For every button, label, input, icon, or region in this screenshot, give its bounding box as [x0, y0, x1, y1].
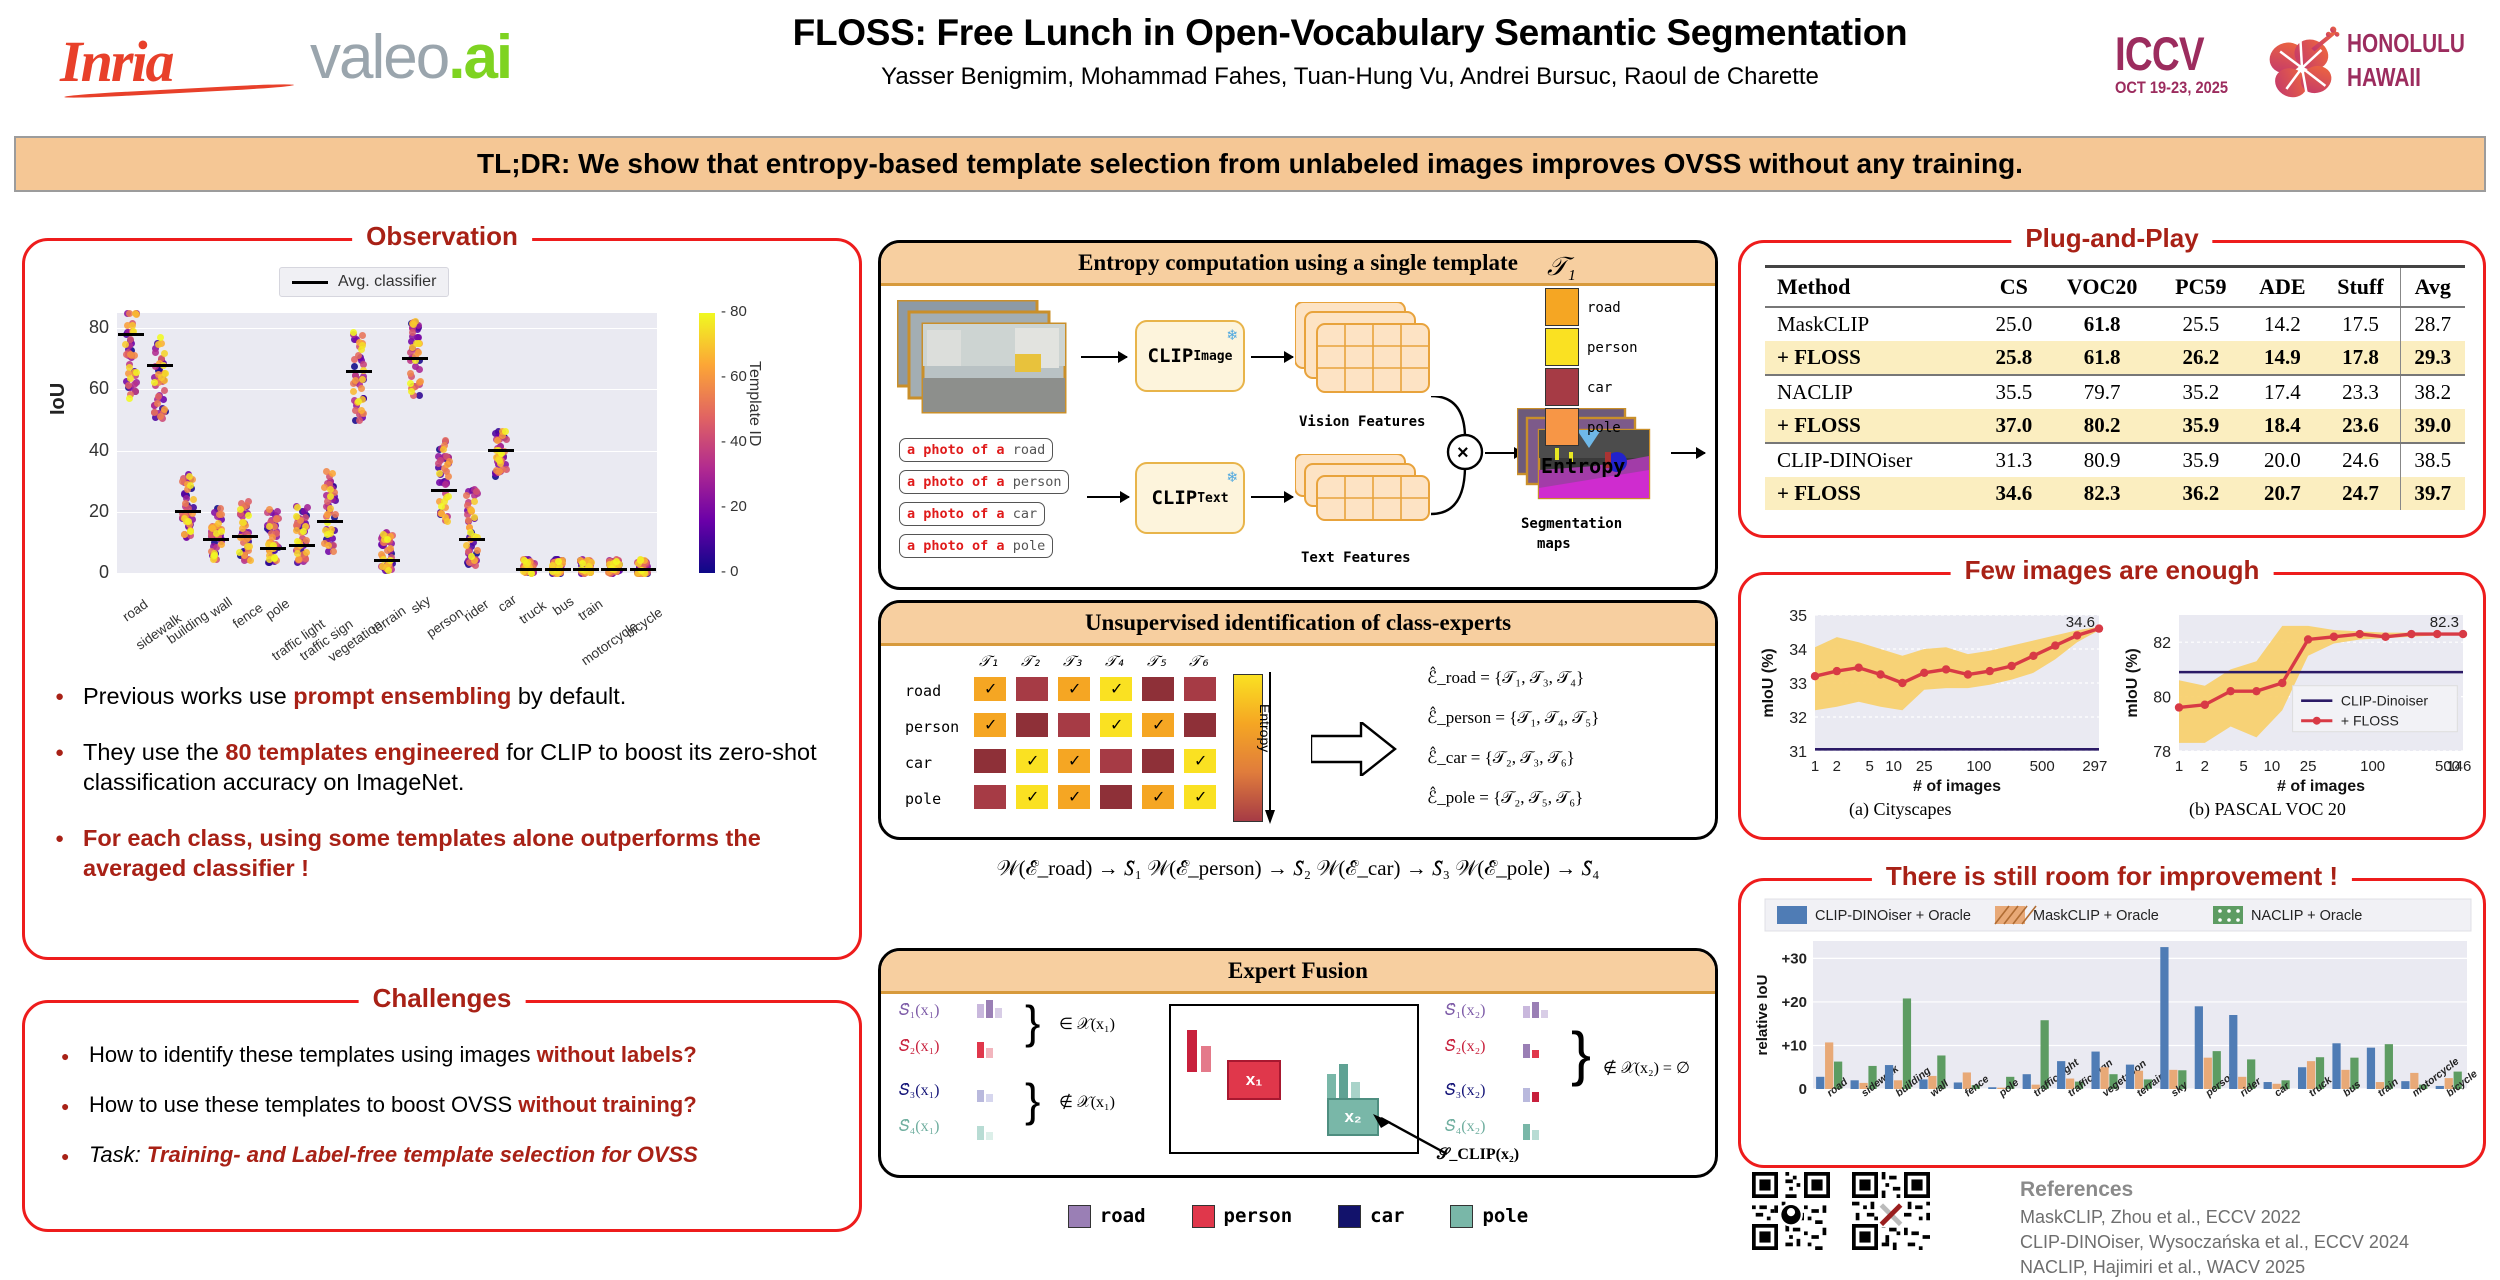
x-tick-label: 100 — [1966, 758, 1991, 775]
scatter-point — [245, 512, 252, 519]
cell-value: 23.6 — [2321, 409, 2400, 443]
check-icon: ✓ — [984, 715, 997, 735]
iccv-location: HONOLULU HAWAII — [2347, 26, 2465, 94]
scatter-point — [274, 508, 281, 515]
prompt-0-class: road — [1013, 442, 1046, 458]
class-swatch-person — [1192, 1205, 1215, 1228]
input-images-stack-icon — [897, 300, 1077, 420]
check-icon: ✓ — [1068, 787, 1081, 807]
class-legend-person: person — [1192, 1205, 1293, 1228]
cell-value: 25.5 — [2158, 307, 2243, 341]
matrix-cell: ✓ — [1141, 712, 1175, 738]
bar — [2264, 1082, 2272, 1089]
scatter-point — [244, 543, 251, 550]
right-mini-bars-icon — [1523, 998, 1567, 1148]
x-tick-label: 2 — [2201, 758, 2209, 775]
expert-left-row-3: 𝑆̂₄(x₁) — [899, 1118, 940, 1136]
cell-method: NACLIP — [1765, 375, 1982, 409]
prompt-1-class: person — [1013, 474, 1062, 490]
hibiscus-flower-icon — [2263, 24, 2341, 104]
svg-text:80: 80 — [2153, 690, 2171, 707]
inria-logo: Inria — [60, 28, 173, 95]
class-label-car: car — [1370, 1205, 1404, 1227]
brace-top-icon: } — [1025, 1002, 1040, 1042]
entropy-bar-label-person: person — [1587, 340, 1638, 356]
check-icon: ✓ — [1026, 751, 1039, 771]
matrix-cell: ✓ — [1099, 712, 1133, 738]
arrow-prompts-to-cliptext — [1087, 496, 1129, 498]
bar — [1816, 1077, 1824, 1089]
cell-method: CLIP-DINOiser — [1765, 443, 1982, 477]
title-block: FLOSS: Free Lunch in Open-Vocabulary Sem… — [640, 12, 2060, 91]
avg-classifier-marker — [488, 449, 514, 452]
vision-features-label: Vision Features — [1299, 414, 1425, 430]
github-qr-code[interactable] — [1752, 1172, 1830, 1250]
scatter-point — [415, 349, 422, 356]
valeo-logo: valeo.ai — [310, 22, 511, 93]
valeo-logo-text: valeo — [310, 23, 448, 92]
class-legend-road: road — [1068, 1205, 1146, 1228]
scatter-point — [162, 370, 169, 377]
challenges-title: Challenges — [359, 983, 526, 1014]
reference-line-3: NACLIP, Hajimiri et al., WACV 2025 — [2020, 1255, 2409, 1280]
cell-method: MaskCLIP — [1765, 307, 1982, 341]
iccv-dates: OCT 19-23, 2025 — [2115, 78, 2228, 98]
data-point — [1833, 667, 1841, 675]
prompt-1-prefix: a photo of a — [907, 474, 1005, 490]
y-tick-label: 60 — [75, 378, 109, 399]
observation-bullets: Previous works use prompt ensembling by … — [51, 681, 841, 909]
notin-x1-label: ∉ 𝒳(x₁) — [1059, 1092, 1115, 1112]
scatter-point — [327, 505, 334, 512]
svg-text:78: 78 — [2153, 744, 2171, 761]
bullet-1-highlight: prompt ensembling — [293, 683, 511, 709]
y-tick-label: 40 — [75, 440, 109, 461]
scatter-point — [417, 378, 424, 385]
data-point — [2381, 633, 2389, 641]
scatter-point — [240, 519, 247, 526]
plug-and-play-panel: Plug-and-Play Method CS VOC20 PC59 ADE S… — [1738, 240, 2486, 538]
scatter-point — [304, 504, 311, 511]
bar — [2091, 1052, 2099, 1089]
x-tick-label: 10 — [2264, 758, 2281, 775]
cell-value: 25.8 — [1982, 341, 2046, 375]
bar — [2195, 1006, 2203, 1089]
cell-value: 35.2 — [2158, 375, 2243, 409]
prompt-2-class: car — [1013, 506, 1037, 522]
scatter-point — [440, 446, 447, 453]
relative-iou-bar-chart: CLIP-DINOiser + OracleMaskCLIP + OracleN… — [1751, 897, 2477, 1153]
cell-value: 37.0 — [1982, 409, 2046, 443]
cell-value: 24.7 — [2321, 477, 2400, 510]
bar — [2401, 1081, 2409, 1089]
valeo-logo-dot: . — [448, 23, 463, 92]
prompt-2-prefix: a photo of a — [907, 506, 1005, 522]
iccv-state: HAWAII — [2347, 62, 2421, 92]
bar — [2023, 1074, 2031, 1089]
entropy-bar-label-pole: pole — [1587, 420, 1621, 436]
unsup-diagram: 𝒯₁ 𝒯₂ 𝒯₃ 𝒯₄ 𝒯₅ 𝒯₆ road person car pole ✓… — [881, 646, 1715, 832]
x-tick-label: 1 — [2175, 758, 2183, 775]
scatter-point — [126, 395, 133, 402]
matrix-cell — [1183, 712, 1217, 738]
scatter-point — [161, 387, 168, 394]
svg-text:33: 33 — [1789, 676, 1807, 693]
cell-value: 35.9 — [2158, 409, 2243, 443]
matrix-cell: ✓ — [1057, 676, 1091, 702]
x-tick-label: bus — [550, 593, 576, 618]
cell-value: 39.0 — [2400, 409, 2465, 443]
plot-area: 020406080roadsidewalkbuildingwallfencepo… — [117, 313, 657, 573]
avg-classifier-marker — [630, 568, 656, 571]
entropy-bar-person — [1545, 328, 1579, 366]
expert-right-row-2: 𝑆̂₃(x₂) — [1445, 1082, 1486, 1100]
arrow-cliptext-to-text-features — [1251, 496, 1293, 498]
x-tick-label: road — [120, 597, 151, 625]
scatter-point — [473, 488, 480, 495]
avg-classifier-marker — [118, 333, 144, 336]
data-point — [2201, 701, 2209, 709]
observation-bullet-1: Previous works use prompt ensembling by … — [51, 681, 841, 711]
matrix-cell: ✓ — [973, 676, 1007, 702]
expert-left-row-0: 𝑆̂₁(x₁) — [899, 1002, 940, 1020]
cell-value: 14.9 — [2243, 341, 2321, 375]
arrow-to-sclip-icon — [1351, 1112, 1451, 1158]
check-icon: ✓ — [984, 679, 997, 699]
scatter-point — [273, 515, 280, 522]
scatter-point — [293, 527, 300, 534]
tldr-banner: TL;DR: We show that entropy-based templa… — [14, 136, 2486, 192]
scatter-point — [521, 557, 528, 564]
matrix-cell: ✓ — [1099, 676, 1133, 702]
entropy-bar-road — [1545, 288, 1579, 326]
prompt-3: a photo of a pole — [899, 534, 1053, 558]
bar — [2160, 947, 2168, 1089]
challenges-panel: Challenges How to identify these templat… — [22, 1000, 862, 1232]
cell-value: 24.6 — [2321, 443, 2400, 477]
cell-value: 36.2 — [2158, 477, 2243, 510]
entropy-bar-label-car: car — [1587, 380, 1612, 396]
scatter-point — [190, 496, 197, 503]
scatter-point — [442, 481, 449, 488]
cell-value: 39.7 — [2400, 477, 2465, 510]
x-tick-label: bicycle — [622, 605, 664, 641]
svg-text:35: 35 — [1789, 608, 1807, 625]
y-tick-label: +10 — [1782, 1037, 1807, 1054]
scatter-point — [355, 398, 362, 405]
matrix-cell: ✓ — [1057, 784, 1091, 810]
cell-value: 80.2 — [2046, 409, 2158, 443]
cell-value: 18.4 — [2243, 409, 2321, 443]
table-row: MaskCLIP25.061.825.514.217.528.7 — [1765, 307, 2465, 341]
sclip-label: 𝒮_CLIP(x₂) — [1437, 1146, 1519, 1164]
check-icon: ✓ — [1068, 751, 1081, 771]
legend-line-swatch — [292, 281, 328, 284]
avg-classifier-marker — [573, 568, 599, 571]
colorbar-tick: - 40 — [721, 433, 747, 450]
scatter-point — [300, 528, 307, 535]
check-icon: ✓ — [1194, 787, 1207, 807]
gridline — [117, 451, 657, 452]
bar — [2298, 1067, 2306, 1089]
gridline — [117, 389, 657, 390]
clip-image-encoder: CLIPImage ❄ — [1135, 320, 1245, 392]
matrix-cell: ✓ — [1183, 784, 1217, 810]
clip-image-label: CLIP — [1148, 345, 1194, 367]
brace-right-icon: } — [1571, 1028, 1591, 1080]
bar — [1825, 1042, 1833, 1089]
class-color-legend: road person car pole — [880, 1196, 1716, 1236]
cell-value: 17.5 — [2321, 307, 2400, 341]
bar — [2126, 1065, 2134, 1089]
valeo-logo-ai: ai — [463, 23, 511, 92]
check-icon: ✓ — [1110, 715, 1123, 735]
data-point — [2095, 624, 2103, 632]
data-point — [2007, 662, 2015, 670]
cell-value: 34.6 — [1982, 477, 2046, 510]
matrix-cell — [1099, 748, 1133, 774]
expert-left-row-1: 𝑆̂₂(x₁) — [899, 1038, 940, 1056]
gridline — [117, 328, 657, 329]
bullet-2-highlight: 80 templates engineered — [225, 739, 499, 765]
x-tick-label: sky — [408, 593, 433, 617]
data-point — [2029, 652, 2037, 660]
bar-chart-svg: CLIP-DINOiser + OracleMaskCLIP + OracleN… — [1751, 897, 2477, 1153]
matrix-cell — [973, 784, 1007, 810]
bar — [2057, 1061, 2065, 1089]
table-header: Method CS VOC20 PC59 ADE Stuff Avg — [1765, 267, 2465, 308]
scatter-point — [218, 541, 225, 548]
expert-set-person: ℰ̂_person = {𝒯₁, 𝒯₄, 𝒯₅} — [1427, 708, 1599, 728]
matrix-cell: ✓ — [973, 712, 1007, 738]
x-tick-label: car — [495, 592, 519, 615]
scatter-point — [330, 548, 337, 555]
cell-value: 38.2 — [2400, 375, 2465, 409]
cell-value: 29.3 — [2400, 341, 2465, 375]
matrix-cell — [1141, 748, 1175, 774]
data-point — [2278, 679, 2286, 687]
bar — [2367, 1048, 2375, 1089]
bar — [1954, 1082, 1962, 1089]
x-tick-label: 1464 — [2446, 758, 2471, 775]
arrow-image-to-clip — [1081, 356, 1127, 358]
references-title: References — [2020, 1178, 2409, 1202]
y-tick-label: +20 — [1782, 994, 1807, 1011]
matrix-cell — [1015, 676, 1049, 702]
bullet-2-pre: They use the — [83, 739, 225, 765]
brace-bottom-icon: } — [1025, 1080, 1040, 1120]
scatter-point — [325, 542, 332, 549]
expert-left-row-2: 𝑆̂₃(x₁) — [899, 1082, 940, 1100]
cell-value: 80.9 — [2046, 443, 2158, 477]
x-tick-label: pole — [263, 596, 293, 623]
matrix-cell — [1015, 712, 1049, 738]
data-point — [2073, 631, 2081, 639]
data-point — [1942, 665, 1950, 673]
challenge-1-pre: How to identify these templates using im… — [89, 1042, 537, 1067]
cell-value: 28.7 — [2400, 307, 2465, 341]
cell-value: 31.3 — [1982, 443, 2046, 477]
cell-value: 20.7 — [2243, 477, 2321, 510]
cityscapes-line-chart: 313233343534.612510251005002975# of imag… — [1757, 597, 2107, 797]
bar — [1851, 1080, 1859, 1089]
data-point — [1898, 679, 1906, 687]
x-tick-label: 2975 — [2082, 758, 2107, 775]
scatter-point — [463, 492, 470, 499]
avg-classifier-marker — [459, 538, 485, 541]
scatter-point — [407, 380, 414, 387]
room-for-improvement-panel: There is still room for improvement ! CL… — [1738, 878, 2486, 1168]
avg-classifier-marker — [374, 559, 400, 562]
x-tick-label: person — [423, 605, 465, 641]
scatter-point — [355, 352, 362, 359]
matrix-cell — [1141, 676, 1175, 702]
caption-cityscapes: (a) Cityscapes — [1849, 799, 1951, 820]
expert-fusion-diagram: 𝑆̂₁(x₁) 𝑆̂₂(x₁) 𝑆̂₃(x₁) 𝑆̂₄(x₁) } ∈ 𝒳(x₁… — [881, 994, 1715, 1172]
observation-bullet-2: They use the 80 templates engineered for… — [51, 737, 841, 797]
observation-panel: Observation Avg. classifier 020406080roa… — [22, 238, 862, 960]
x-tick-label: 2 — [1833, 758, 1841, 775]
cell-method: + FLOSS — [1765, 477, 1982, 510]
expert-set-car: ℰ̂_car = {𝒯₂, 𝒯₃, 𝒯₆} — [1427, 748, 1575, 768]
multiply-icon: × — [1457, 442, 1469, 465]
legend-swatch — [1777, 906, 1807, 924]
cell-value: 35.9 — [2158, 443, 2243, 477]
y-tick-label: 80 — [75, 317, 109, 338]
check-icon: ✓ — [1110, 679, 1123, 699]
bar — [2332, 1043, 2340, 1089]
colorbar-tick: - 60 — [721, 368, 747, 385]
scatter-point — [358, 407, 365, 414]
right-arrow-icon — [1311, 722, 1397, 776]
notin-x2-label: ∉ 𝒳(x₂) = ∅ — [1603, 1058, 1690, 1078]
colorbar-tick: - 0 — [721, 563, 739, 580]
check-icon: ✓ — [1068, 679, 1081, 699]
scatter-point — [127, 375, 134, 382]
x-axis-label: # of images — [2277, 778, 2365, 795]
svg-text:+ FLOSS: + FLOSS — [2341, 713, 2399, 729]
y-tick-label: 0 — [75, 562, 109, 583]
cell-value: 17.4 — [2243, 375, 2321, 409]
challenge-bullet-1: How to identify these templates using im… — [55, 1041, 841, 1069]
challenges-bullets: How to identify these templates using im… — [55, 1041, 841, 1191]
cell-value: 20.0 — [2243, 443, 2321, 477]
scatter-point — [247, 557, 254, 564]
cell-value: 26.2 — [2158, 341, 2243, 375]
entropy-panel-title: Entropy computation using a single templ… — [881, 243, 1715, 286]
scatter-point — [359, 332, 366, 339]
template-symbol: 𝒯₁ — [1547, 252, 1576, 283]
in-x1-label: ∈ 𝒳(x₁) — [1059, 1014, 1115, 1034]
svg-text:34: 34 — [1789, 642, 1807, 659]
voc-line-chart: 78808282.312510251005001464# of imagesmI… — [2121, 597, 2471, 797]
unsup-panel-title: Unsupervised identification of class-exp… — [881, 603, 1715, 646]
author-list: Yasser Benigmim, Mohammad Fahes, Tuan-Hu… — [640, 63, 2060, 91]
arxiv-qr-code[interactable] — [1852, 1172, 1930, 1250]
challenge-1-highlight: without labels? — [537, 1042, 697, 1067]
data-point — [2051, 641, 2059, 649]
th-voc20: VOC20 — [2046, 267, 2158, 308]
observation-title: Observation — [352, 221, 532, 252]
bullet-1-post: by default. — [511, 683, 626, 709]
avg-classifier-marker — [431, 489, 457, 492]
clip-text-label: CLIP — [1151, 487, 1197, 509]
cell-value: 79.7 — [2046, 375, 2158, 409]
iccv-logo: ICCV OCT 19-23, 2025 HONOLULU HAWAII — [2115, 22, 2485, 106]
table-row: NACLIP35.579.735.217.423.338.2 — [1765, 375, 2465, 409]
bar — [1919, 1079, 1927, 1089]
matrix-cell — [1183, 676, 1217, 702]
check-icon: ✓ — [1152, 787, 1165, 807]
data-point — [1876, 670, 1884, 678]
avg-classifier-marker — [289, 544, 315, 547]
avg-classifier-marker — [203, 538, 229, 541]
th-pc59: PC59 — [2158, 267, 2243, 308]
expert-fusion-panel: Expert Fusion 𝑆̂₁(x₁) 𝑆̂₂(x₁) 𝑆̂₃(x₁) 𝑆̂… — [878, 948, 1718, 1178]
segmaps-label-2: maps — [1537, 536, 1571, 552]
x-tick-label: 10 — [1885, 758, 1902, 775]
data-point — [1986, 667, 1994, 675]
arrow-to-entropy — [1671, 452, 1705, 454]
chart-legend: CLIP-Dinoiser+ FLOSS — [2293, 686, 2458, 732]
class-legend-pole: pole — [1450, 1205, 1528, 1228]
arrow-clip-to-vision-features — [1251, 356, 1293, 358]
y-axis-label: IoU — [47, 383, 70, 415]
legend-label: CLIP-DINOiser + Oracle — [1815, 908, 1971, 924]
scatter-point — [350, 329, 357, 336]
iccv-city: HONOLULU — [2347, 28, 2465, 58]
cell-value: 61.8 — [2046, 341, 2158, 375]
x-tick-label: 100 — [2360, 758, 2385, 775]
class-label-pole: pole — [1482, 1205, 1528, 1227]
bar — [1903, 998, 1911, 1089]
data-point — [1811, 672, 1819, 680]
reference-line-2: CLIP-DINOiser, Wysoczańska et al., ECCV … — [2020, 1230, 2409, 1255]
scatter-point — [295, 556, 302, 563]
scatter-point — [471, 498, 478, 505]
segmaps-label-1: Segmentation — [1521, 516, 1622, 532]
challenge-2-pre: How to use these templates to boost OVSS — [89, 1092, 518, 1117]
class-label-road: road — [1100, 1205, 1146, 1227]
scatter-point — [182, 500, 189, 507]
scatter-point — [157, 334, 164, 341]
scatter-point — [407, 370, 414, 377]
box-x1: x₁ — [1227, 1060, 1281, 1100]
scatter-point — [126, 364, 133, 371]
check-icon: ✓ — [1194, 751, 1207, 771]
avg-classifier-marker — [260, 547, 286, 550]
matrix-cell: ✓ — [1015, 748, 1049, 774]
entropy-label: Entropy — [1541, 454, 1625, 478]
cell-method: + FLOSS — [1765, 341, 1982, 375]
data-point — [1854, 664, 1862, 672]
scatter-point — [155, 341, 162, 348]
value-annotation: 34.6 — [2066, 614, 2095, 631]
expert-mapping-line: 𝒲(ℰ̂_road) → 𝑆̂₁ 𝒲(ℰ̂_person) → 𝑆̂₂ 𝒲(ℰ̂… — [878, 856, 1718, 881]
prompt-0: a photo of a road — [899, 438, 1053, 462]
scatter-point — [358, 385, 365, 392]
unsup-row-label-pole: pole — [905, 790, 941, 808]
x-tick-label: rider — [461, 596, 492, 624]
unsup-col-2: 𝒯₃ — [1063, 652, 1084, 670]
scatter-point — [161, 406, 168, 413]
scatter-point — [131, 381, 138, 388]
th-cs: CS — [1982, 267, 2046, 308]
cell-value: 23.3 — [2321, 375, 2400, 409]
data-point — [2252, 687, 2260, 695]
scatter-point — [444, 461, 451, 468]
check-icon: ✓ — [1026, 787, 1039, 807]
